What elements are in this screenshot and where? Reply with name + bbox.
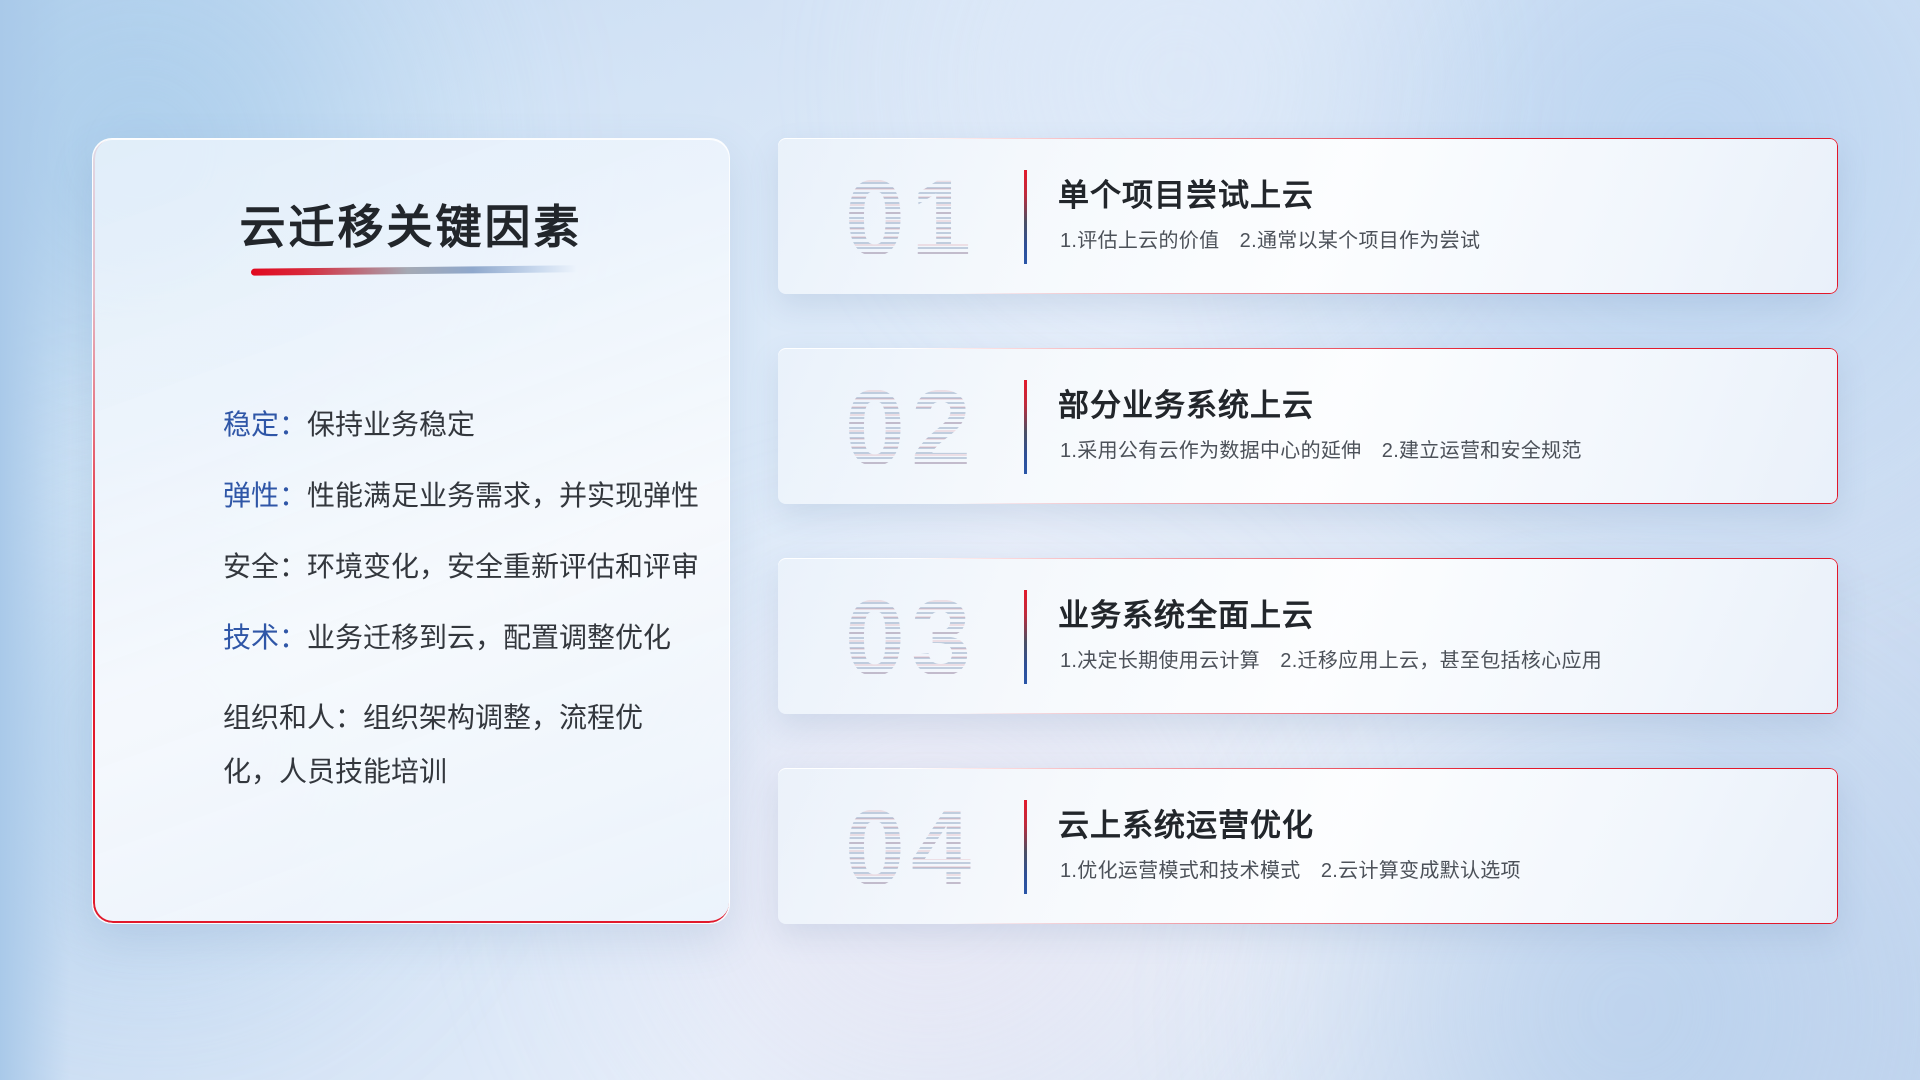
factor-key: 组织和人： xyxy=(223,702,363,733)
step-number-ghost-tint: 04 xyxy=(806,772,1016,922)
step-divider-bar xyxy=(1024,170,1027,264)
list-item: 组织和人：组织架构调整，流程优化，人员技能培训 xyxy=(223,691,683,800)
factor-key: 技术： xyxy=(223,622,307,653)
step-divider-bar xyxy=(1024,380,1027,474)
step-divider-bar xyxy=(1024,590,1027,684)
step-subtitle: 1.采用公有云作为数据中心的延伸 2.建立运营和安全规范 xyxy=(1060,434,1582,463)
factor-text: 保持业务稳定 xyxy=(307,409,475,440)
step-card-04[interactable]: 04 04 云上系统运营优化 1.优化运营模式和技术模式 2.云计算变成默认选项 xyxy=(778,768,1838,924)
step-number-ghost-tint: 02 xyxy=(806,352,1016,502)
factor-text: 性能满足业务需求，并实现弹性 xyxy=(307,480,699,511)
step-number-ghost-tint: 03 xyxy=(806,562,1016,712)
list-item: 弹性：性能满足业务需求，并实现弹性 xyxy=(223,478,683,515)
step-subtitle: 1.优化运营模式和技术模式 2.云计算变成默认选项 xyxy=(1060,854,1521,883)
step-divider-bar xyxy=(1024,800,1027,894)
step-subtitle: 1.评估上云的价值 2.通常以某个项目作为尝试 xyxy=(1060,224,1480,253)
list-item: 安全：环境变化，安全重新评估和评审 xyxy=(223,549,683,586)
title-underline-rule xyxy=(251,265,577,275)
factor-text: 业务迁移到云，配置调整优化 xyxy=(307,622,671,653)
factors-list: 稳定：保持业务稳定 弹性：性能满足业务需求，并实现弹性 安全：环境变化，安全重新… xyxy=(223,407,683,834)
step-title: 单个项目尝试上云 xyxy=(1058,170,1314,215)
factor-text: 环境变化，安全重新评估和评审 xyxy=(307,551,699,582)
step-card-03[interactable]: 03 03 业务系统全面上云 1.决定长期使用云计算 2.迁移应用上云，甚至包括… xyxy=(778,558,1838,714)
step-title: 云上系统运营优化 xyxy=(1058,800,1314,845)
page-title: 云迁移关键因素 xyxy=(93,191,729,257)
step-card-02[interactable]: 02 02 部分业务系统上云 1.采用公有云作为数据中心的延伸 2.建立运营和安… xyxy=(778,348,1838,504)
step-title: 业务系统全面上云 xyxy=(1058,590,1314,635)
factor-key: 安全： xyxy=(223,551,307,582)
step-card-01[interactable]: 01 01 单个项目尝试上云 1.评估上云的价值 2.通常以某个项目作为尝试 xyxy=(778,138,1838,294)
step-number-ghost-tint: 01 xyxy=(806,142,1016,292)
list-item: 技术：业务迁移到云，配置调整优化 xyxy=(223,620,683,657)
factor-key: 稳定： xyxy=(223,409,307,440)
key-factors-card: 云迁移关键因素 稳定：保持业务稳定 弹性：性能满足业务需求，并实现弹性 安全：环… xyxy=(92,138,730,924)
step-title: 部分业务系统上云 xyxy=(1058,380,1314,425)
list-item: 稳定：保持业务稳定 xyxy=(223,407,683,444)
factor-key: 弹性： xyxy=(223,480,307,511)
step-subtitle: 1.决定长期使用云计算 2.迁移应用上云，甚至包括核心应用 xyxy=(1060,644,1602,673)
